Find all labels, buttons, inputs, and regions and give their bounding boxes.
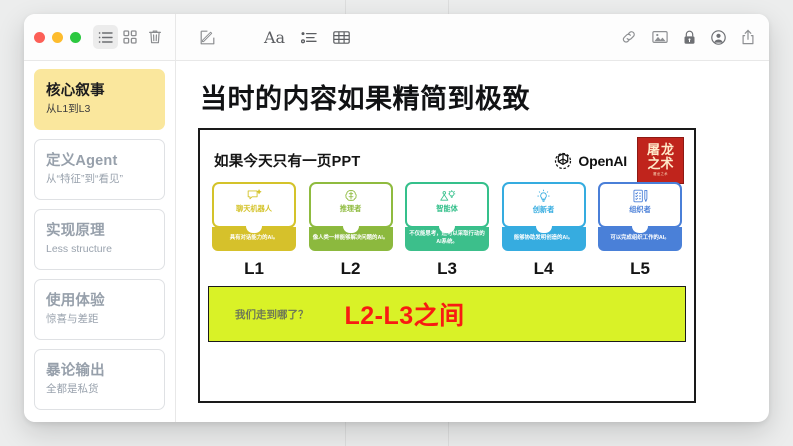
app-window: Aa [24,14,769,422]
level-card-l2[interactable]: 推理者 像人类一样能够解决问题的AI。 [309,182,393,251]
level-labels-row: L1 L2 L3 L4 L5 [200,251,694,279]
stamp-char-2: 龙 [661,144,674,157]
brain-icon [344,189,358,202]
sidebar-item-subtitle: 惊喜与差距 [46,313,153,325]
maximize-button[interactable] [70,32,81,43]
stamp-char-3: 之术 [647,158,673,171]
sidebar-item-title: 核心叙事 [46,83,153,100]
actions-group [621,29,755,45]
close-button[interactable] [34,32,45,43]
level-label-l1: L1 [212,259,296,279]
sidebar-item-principles[interactable]: 实现原理 Less structure [34,209,165,270]
slide-header: 如果今天只有一页PPT OpenAI [200,130,694,182]
openai-name: OpenAI [578,153,627,169]
sidebar: 核心叙事 从L1到L3 定义Agent 从“特征”到“看见” 实现原理 Less… [24,61,176,422]
level-card-l5[interactable]: 组织者 可以完成组织工作的AI。 [598,182,682,251]
grid-view-icon[interactable] [118,25,143,49]
toolbar-right-section: Aa [176,14,769,60]
compose-icon[interactable] [194,25,220,49]
level-card-desc: 像人类一样能够解决问题的AI。 [313,235,388,242]
openai-logo-icon [553,151,573,171]
screen: Aa [0,0,793,446]
trash-icon[interactable] [142,25,167,49]
sidebar-item-title: 定义Agent [46,153,153,170]
slide-heading: 如果今天只有一页PPT [214,150,360,171]
robot-bulb-icon [439,189,456,202]
status-answer: L2-L3之间 [345,296,465,332]
sidebar-item-subtitle: 全都是私货 [46,383,153,395]
bullet-list-icon[interactable] [301,31,317,44]
level-card-desc: 具有对话能力的AI。 [230,235,279,242]
page-title: 当时的内容如果精简到极致 [200,77,751,116]
level-card-label: 创新者 [533,205,555,215]
level-card-desc: 能够协助发明创造的AI。 [514,235,573,242]
level-card-l3[interactable]: 智能体 不仅能思考，还可以采取行动的AI系统。 [405,182,489,251]
chat-sparkle-icon [247,189,262,202]
toolbar: Aa [24,14,769,61]
level-cards-row: 聊天机器人 具有对话能力的AI。 [200,182,694,251]
level-card-label: 聊天机器人 [236,204,272,214]
text-format-icon[interactable]: Aa [264,28,285,47]
openai-brand: OpenAI [553,151,627,171]
share-icon[interactable] [741,29,755,45]
sidebar-item-title: 暴论输出 [46,363,153,380]
level-card-l4[interactable]: 创新者 能够协助发明创造的AI。 [502,182,586,251]
level-label-l4: L4 [502,259,586,279]
stamp-char-1: 屠 [647,144,660,157]
window-body: 核心叙事 从L1到L3 定义Agent 从“特征”到“看见” 实现原理 Less… [24,61,769,422]
clipboard-pen-icon [633,189,648,203]
level-card-l1[interactable]: 聊天机器人 具有对话能力的AI。 [212,182,296,251]
sidebar-item-hot-takes[interactable]: 暴论输出 全都是私货 [34,349,165,410]
sidebar-item-title: 实现原理 [46,223,153,240]
sidebar-item-title: 使用体验 [46,293,153,310]
sidebar-item-subtitle: 从L1到L3 [46,103,153,115]
list-view-icon[interactable] [93,25,118,49]
level-card-label: 智能体 [436,204,458,214]
link-icon[interactable] [621,30,637,44]
level-label-l5: L5 [598,259,682,279]
format-tools-group: Aa [264,28,350,47]
sidebar-item-define-agent[interactable]: 定义Agent 从“特征”到“看见” [34,139,165,200]
sidebar-item-subtitle: 从“特征”到“看见” [46,173,153,185]
level-card-desc: 可以完成组织工作的AI。 [610,235,669,242]
sidebar-item-core-narrative[interactable]: 核心叙事 从L1到L3 [34,69,165,130]
sidebar-item-subtitle: Less structure [46,243,153,255]
window-controls[interactable] [34,32,81,43]
red-seal-stamp: 屠 龙 之术 屠龙之术 [637,137,684,184]
level-card-label: 推理者 [340,204,362,214]
level-card-label: 组织者 [629,205,651,215]
level-card-desc: 不仅能思考，还可以采取行动的AI系统。 [409,231,485,246]
stamp-footer: 屠龙之术 [653,173,668,176]
minimize-button[interactable] [52,32,63,43]
content-area: 当时的内容如果精简到极致 如果今天只有一页PPT [176,61,769,422]
level-label-l2: L2 [309,259,393,279]
lightbulb-icon [536,189,551,203]
image-icon[interactable] [652,30,668,44]
sidebar-item-experience[interactable]: 使用体验 惊喜与差距 [34,279,165,340]
slide-canvas[interactable]: 如果今天只有一页PPT OpenAI [198,128,696,403]
level-label-l3: L3 [405,259,489,279]
status-question: 我们走到哪了？ [235,307,309,322]
account-icon[interactable] [711,30,726,45]
lock-icon[interactable] [683,30,696,45]
table-icon[interactable] [333,31,350,44]
toolbar-left-section [24,14,176,60]
status-bar: 我们走到哪了？ L2-L3之间 [208,286,686,342]
